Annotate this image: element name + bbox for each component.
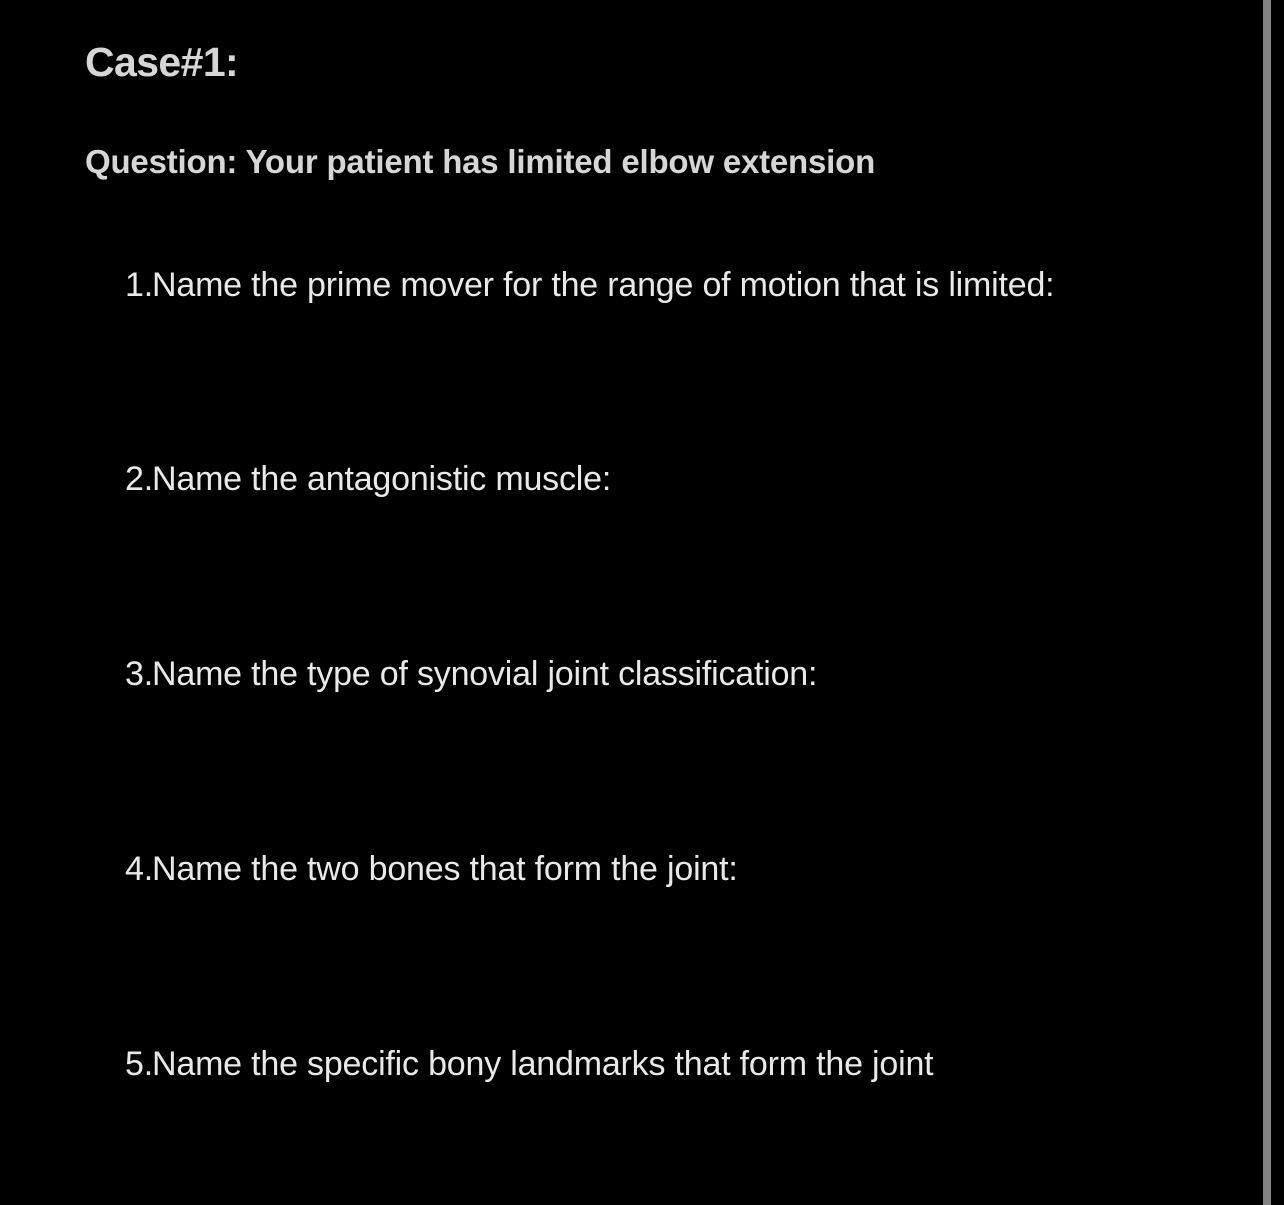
scrollbar-thumb[interactable] [1263,0,1271,1205]
list-item-label: Name the type of synovial joint classifi… [152,643,1137,706]
list-item: 2. Name the antagonistic muscle: [85,448,1195,511]
question-list: 1. Name the prime mover for the range of… [85,254,1195,1096]
list-item-marker: 2. [85,448,152,511]
list-item-marker: 3. [85,643,152,706]
list-item-marker: 5. [85,1033,152,1096]
list-item: 5. Name the specific bony landmarks that… [85,1033,1195,1096]
list-item-marker: 1. [85,254,152,317]
scrollbar-track[interactable] [1263,0,1271,1205]
page-root: Case#1: Question: Your patient has limit… [0,0,1284,1205]
list-item-label: Name the specific bony landmarks that fo… [152,1033,1137,1096]
list-item: 1. Name the prime mover for the range of… [85,254,1195,317]
list-item: 4. Name the two bones that form the join… [85,838,1195,901]
page-title: Case#1: [85,40,1195,86]
list-item: 3. Name the type of synovial joint class… [85,643,1195,706]
list-item-label: Name the antagonistic muscle: [152,448,1137,511]
list-item-label: Name the two bones that form the joint: [152,838,1137,901]
question-prompt: Question: Your patient has limited elbow… [85,128,1015,196]
document-content: Case#1: Question: Your patient has limit… [0,0,1255,1205]
list-item-label: Name the prime mover for the range of mo… [152,254,1137,317]
list-item-marker: 4. [85,838,152,901]
